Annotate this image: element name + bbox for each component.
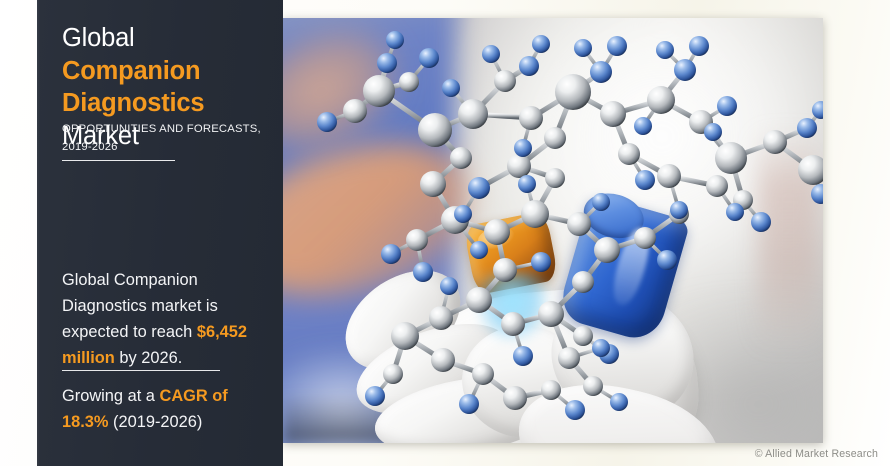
market-value-statement: Global Companion Diagnostics market is e… xyxy=(62,267,264,371)
subtitle-line2: 2019-2026 xyxy=(62,141,118,153)
cagr-prefix: Growing at a xyxy=(62,387,159,405)
cagr-statement: Growing at a CAGR of 18.3% (2019-2026) xyxy=(62,383,278,435)
molecular-model xyxy=(283,18,823,443)
cagr-period: (2019-2026) xyxy=(108,413,202,431)
divider-mid xyxy=(62,370,220,371)
subtitle: OPPORTUNITIES AND FORECASTS, 2019-2026 xyxy=(62,120,262,157)
editorial-panel: Global Companion Diagnostics Market OPPO… xyxy=(37,0,283,466)
subtitle-line1: OPPORTUNITIES AND FORECASTS, xyxy=(62,123,261,135)
copyright-credit: © Allied Market Research xyxy=(755,448,878,460)
statement-prefix: Global Companion Diagnostics market is e… xyxy=(62,271,218,341)
hero-photo xyxy=(283,18,823,443)
title-line2-accent: Diagnostics xyxy=(62,89,204,117)
infographic-canvas: Global Companion Diagnostics Market OPPO… xyxy=(0,0,890,466)
title-line1-plain: Global xyxy=(62,24,135,52)
statement-suffix: by 2026. xyxy=(115,349,182,367)
divider-top xyxy=(62,160,175,161)
title-line1-accent: Companion xyxy=(62,57,200,85)
